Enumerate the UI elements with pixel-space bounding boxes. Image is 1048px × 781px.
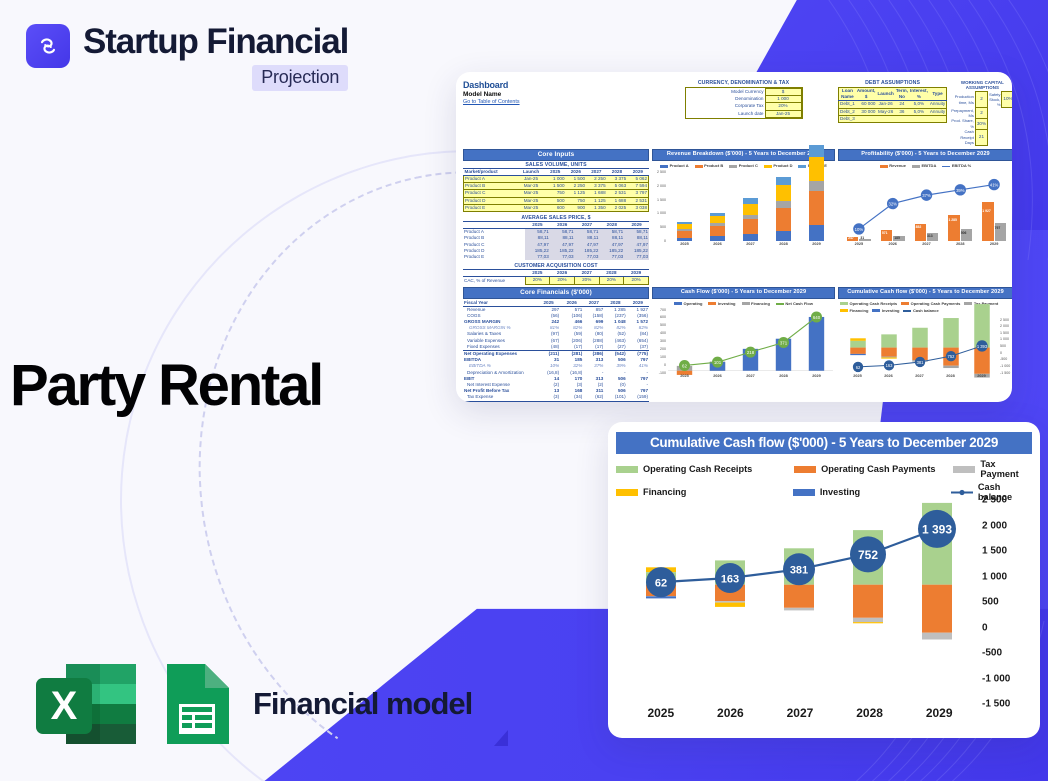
x-tick: 2026 (696, 706, 766, 730)
sales-volume-title: SALES VOLUME, UNITS (463, 162, 649, 169)
col-header: Launch (517, 169, 545, 176)
cell: 3 797 (627, 190, 648, 197)
y-tick: 500 (660, 323, 666, 327)
cell: May-26 (876, 108, 894, 115)
chart-title: Cumulative Cash flow ($'000) - 5 Years t… (616, 432, 1032, 454)
x-tick: 2027 (765, 706, 835, 730)
wc-row-label2: Safety Stock, % (988, 92, 1002, 108)
cell: (48) (537, 344, 560, 351)
x-tick: 2028 (943, 242, 977, 250)
y-tick: 2 500 (1000, 318, 1009, 322)
legend-item: Operating Cash Receipts (616, 459, 794, 479)
cell: Annuity (929, 108, 947, 115)
legend-label: Financing (850, 308, 869, 313)
legend-label: Product C (739, 163, 758, 168)
svg-text:1 393: 1 393 (977, 343, 988, 348)
legend-swatch (616, 466, 638, 473)
x-tick: 2026 (876, 242, 910, 250)
cell: (3) (537, 394, 560, 401)
col-header: 2025 (525, 222, 550, 229)
legend-item: Cash balance (903, 308, 938, 313)
cell: Jan-26 (876, 101, 894, 108)
table-row[interactable]: Revenue2975718571 2851 927 (463, 306, 649, 313)
col-header: 2029 (624, 222, 649, 229)
cell: Product D (464, 197, 518, 204)
cell: 1 350 (586, 204, 607, 211)
svg-text:371: 371 (780, 340, 788, 345)
x-tick: 2028 (935, 374, 966, 382)
y-tick: 0 (1000, 351, 1002, 355)
cell: (37) (627, 344, 649, 351)
cell: 297 (537, 306, 560, 313)
cell: (281) (560, 351, 583, 358)
table-row[interactable]: Product E Mar-25 600 900 1 350 2 025 3 0… (464, 204, 649, 211)
col-header: 2026 (550, 270, 575, 277)
table-row[interactable]: Product D Mar-25 500 750 1 125 1 688 2 5… (464, 197, 649, 204)
x-axis: 2025 2026 2027 2028 2029 (842, 242, 1011, 250)
cell: 58,71 (550, 229, 575, 236)
legend-label: Operating Cash Payments (821, 464, 935, 474)
col-header: Fiscal Year (463, 300, 537, 307)
legend-item: Product C (729, 163, 758, 168)
legend-label: Operating (684, 301, 703, 306)
revenue-breakdown-band: Revenue Breakdown ($'000) - 5 Years to D… (652, 149, 835, 161)
table-row[interactable]: Net Operating Expenses(211)(281)(386)(54… (463, 351, 649, 358)
table-row[interactable]: Product A 58,71 58,71 58,71 58,71 58,71 (463, 229, 649, 236)
currency-row-value[interactable]: $ (765, 89, 801, 96)
cell: 600 (545, 204, 566, 211)
cell: 637 (627, 401, 649, 402)
cell: Product A (463, 229, 525, 236)
y-tick: 300 (660, 339, 666, 343)
wc-row-label: Production time, Ms (950, 92, 975, 108)
cell: 571 (560, 306, 583, 313)
microsoft-excel-icon: X (33, 660, 141, 748)
cell: 58,71 (575, 229, 600, 236)
dashboard-model-name: Model Name (463, 91, 649, 98)
wc-row-label: Prepayment, Ms (950, 108, 975, 119)
working-capital-table[interactable]: Production time, Ms 2 Safety Stock, % 10… (950, 91, 1012, 146)
x-axis: 2025 2026 2027 2028 2029 (668, 374, 833, 382)
x-tick: 2027 (734, 242, 767, 250)
x-tick: 2027 (910, 242, 944, 250)
cell: (17) (583, 344, 604, 351)
cell: 5,0% (909, 101, 929, 108)
y-tick: 1 500 (657, 198, 666, 202)
cell: 750 (545, 190, 566, 197)
cell: 5,0% (909, 108, 929, 115)
cell: 2 250 (586, 176, 607, 183)
page-title: Party Rental (10, 352, 322, 419)
cell: 3 375 (607, 176, 628, 183)
cell: 857 (583, 306, 604, 313)
debt-assumptions-table[interactable]: Loan Name Amount, $ Launch Term, No Inte… (838, 87, 947, 123)
col-header: 2026 (566, 169, 587, 176)
bar-stack (677, 222, 692, 241)
cell: 58,71 (525, 229, 550, 236)
legend-label: Tax Payment (980, 459, 1032, 479)
cell: 1 000 (545, 176, 566, 183)
x-tick: 2029 (966, 374, 997, 382)
dashboard-toc-link[interactable]: Go to Table of Contents (463, 99, 649, 105)
cell: Product E (464, 204, 518, 211)
legend-label: Product A (670, 163, 689, 168)
cell: 20% (624, 277, 649, 284)
cell: 900 (566, 204, 587, 211)
cumulative-cash-flow-mini-chart[interactable]: Operating Cash Receipts Operating Cash P… (838, 300, 1012, 382)
x-tick: 2026 (701, 242, 734, 250)
cell: (211) (537, 351, 560, 358)
svg-text:39%: 39% (956, 188, 965, 193)
legend-item: EBITDA (912, 163, 936, 168)
svg-text:41%: 41% (990, 183, 999, 188)
currency-row-label: Launch date (686, 110, 766, 117)
cac-title: CUSTOMER ACQUISITION COST (463, 263, 649, 270)
debt-col-header: Type (929, 88, 947, 101)
bar-stack (809, 145, 824, 241)
cell: 1 125 (586, 197, 607, 204)
legend-label: Financing (643, 487, 686, 497)
legend-label: Investing (820, 487, 860, 497)
legend-label: Operating Cash Receipts (643, 464, 752, 474)
wc-row-label: Cash Receipt Days (950, 129, 975, 145)
cell: 20% (599, 277, 624, 284)
chart-legend: Product A Product B Product C Product D … (652, 162, 835, 170)
x-tick: 2025 (842, 374, 873, 382)
cumulative-cash-flow-card[interactable]: Cumulative Cash flow ($'000) - 5 Years t… (608, 422, 1040, 738)
legend-item: Net Cash Flow (776, 301, 813, 306)
svg-text:752: 752 (858, 548, 878, 562)
x-tick: 2029 (800, 242, 833, 250)
currency-row-label: Model Currency (686, 89, 766, 96)
row-label: Revenue (463, 306, 537, 313)
cac-table[interactable]: 2025 2026 2027 2028 2029 CAC, % of Reven… (463, 270, 649, 284)
table-row[interactable]: Product E 77,03 77,03 77,03 77,03 77,03 (463, 254, 649, 260)
x-tick: 2029 (800, 374, 833, 382)
x-tick: 2027 (734, 374, 767, 382)
legend-item: EBITDA % (942, 163, 971, 168)
col-header: 2028 (607, 169, 628, 176)
svg-text:1 393: 1 393 (922, 523, 952, 537)
cell: 3 038 (627, 204, 648, 211)
profitability-band: Profitability ($'000) - 5 Years to Decem… (838, 149, 1012, 161)
bar-stack (710, 213, 725, 241)
table-row[interactable]: Debt_1 60 000 Jan-26 24 5,0% Annuity (839, 101, 947, 108)
x-tick: 2027 (904, 374, 935, 382)
cell: 10 (537, 401, 560, 402)
core-inputs-tables[interactable]: SALES VOLUME, UNITS Market/product Launc… (463, 162, 649, 285)
legend-label: Revenue (889, 163, 906, 168)
row-label: Net Profit After Tax (463, 401, 537, 402)
bar-stack (743, 198, 758, 241)
cell: (159) (627, 394, 649, 401)
cell: 500 (545, 197, 566, 204)
dashboard-heading: Dashboard (463, 80, 649, 90)
x-tick: 2025 (842, 242, 876, 250)
cell: Jan-25 (517, 176, 545, 183)
x-tick: 2028 (835, 706, 905, 730)
cell: Mar-25 (517, 204, 545, 211)
y-tick: 100 (660, 355, 666, 359)
currency-row-value[interactable]: 1 000 (765, 96, 801, 103)
legend-swatch (616, 489, 638, 496)
y-tick: 1 000 (982, 571, 1007, 582)
col-header: 2027 (574, 270, 599, 277)
row-label: Tax Expense (463, 394, 537, 401)
table-row[interactable]: Fixed Expenses(48)(17)(17)(27)(37) (463, 344, 649, 351)
x-tick: 2029 (977, 242, 1011, 250)
cell: 77,03 (575, 254, 600, 260)
legend-label: Investing (882, 308, 900, 313)
wc-row-value[interactable]: 21 (975, 129, 987, 145)
table-row[interactable]: Product C Mar-25 750 1 125 1 688 2 531 3… (464, 190, 649, 197)
x-tick: 2026 (701, 374, 734, 382)
cash-balance-markers: 62 163 381 752 1 393 (842, 320, 997, 376)
x-tick: 2025 (668, 374, 701, 382)
x-axis: 2025 2026 2027 2028 2029 (842, 374, 997, 382)
legend-item: Financing (616, 482, 793, 502)
col-header: 2025 (537, 300, 560, 307)
row-label: Fixed Expenses (463, 344, 537, 351)
core-inputs-band: Core Inputs (463, 149, 649, 161)
currency-row-value[interactable]: Jan-25 (765, 110, 801, 117)
legend-label: EBITDA (921, 163, 936, 168)
debt-col-header: Interest, % (909, 88, 929, 101)
svg-text:10%: 10% (855, 227, 864, 232)
cell: 24 (895, 101, 909, 108)
col-header: 2027 (586, 169, 607, 176)
col-header: 2025 (545, 169, 566, 176)
legend-label: Product B (704, 163, 723, 168)
svg-text:X: X (51, 684, 78, 728)
debt-col-header: Term, No (895, 88, 909, 101)
y-tick: 500 (982, 597, 999, 608)
col-header: 2026 (550, 222, 575, 229)
format-badges: X Financial model (33, 660, 472, 748)
x-tick: 2028 (767, 242, 800, 250)
col-header: 2026 (560, 300, 583, 307)
cell: Product E (463, 254, 525, 260)
x-axis: 2025 2026 2027 2028 2029 (626, 706, 974, 730)
y-tick: 2 000 (1000, 324, 1009, 328)
y-tick: -100 (659, 371, 666, 375)
legend-label: Investing (718, 301, 736, 306)
cell: 58,71 (624, 229, 649, 236)
svg-text:32%: 32% (888, 202, 897, 207)
cell: Debt_1 (839, 101, 856, 108)
y-tick: 0 (664, 239, 666, 243)
revenue-breakdown-chart[interactable]: Product A Product B Product C Product D … (652, 162, 835, 250)
col-header: 2028 (604, 300, 626, 307)
cell: 77,03 (550, 254, 575, 260)
legend-item: Product B (695, 163, 724, 168)
svg-text:218: 218 (747, 350, 755, 355)
legend-swatch (794, 466, 816, 473)
table-row[interactable]: Product A Jan-25 1 000 1 500 2 250 3 375… (464, 176, 649, 183)
cell: Mar-25 (517, 183, 545, 190)
cell: 1 500 (566, 176, 587, 183)
y-tick: 700 (660, 308, 666, 312)
google-sheets-icon (161, 660, 233, 748)
cell: 250 (583, 401, 604, 402)
svg-text:163: 163 (886, 363, 894, 368)
cell: 2 531 (627, 197, 648, 204)
currency-row-value[interactable]: 20% (765, 103, 801, 110)
cell: Product C (464, 190, 518, 197)
debt-block-title: DEBT ASSUMPTIONS (838, 80, 947, 86)
y-axis: 2 500 2 000 1 500 1 000 500 0 -500 -1 00… (974, 500, 1032, 704)
wc-row-value[interactable]: 2 (975, 108, 987, 119)
y-tick: 2 000 (657, 184, 666, 188)
table-row[interactable]: Variable Expenses(67)(206)(288)(463)(654… (463, 338, 649, 344)
wc-row-value[interactable]: 2 (975, 92, 987, 108)
svg-text:62: 62 (682, 363, 687, 368)
legend-item: Investing (708, 301, 735, 306)
table-row[interactable]: Net Profit After Tax10134250405637 (463, 401, 649, 402)
cell: 20% (550, 277, 575, 284)
legend-swatch (953, 466, 975, 473)
col-header: 2028 (599, 222, 624, 229)
y-tick: 2 500 (982, 495, 1007, 506)
cell: 58,71 (599, 229, 624, 236)
legend-label: Net Cash Flow (785, 301, 813, 306)
svg-text:62: 62 (856, 364, 861, 369)
chart-legend: Revenue EBITDA EBITDA % (838, 162, 1012, 170)
y-tick: -1 500 (1000, 371, 1010, 375)
svg-text:163: 163 (721, 573, 739, 585)
cell: Product B (464, 183, 518, 190)
y-tick: -1 000 (1000, 364, 1010, 368)
x-tick: 2026 (873, 374, 904, 382)
sales-volume-table[interactable]: Market/product Launch 2025 2026 2027 202… (463, 169, 649, 212)
cell: Annuity (929, 101, 947, 108)
core-financials-table[interactable]: Fiscal Year 2025 2026 2027 2028 2029 Rev… (463, 300, 649, 402)
x-axis: 2025 2026 2027 2028 2029 (668, 242, 833, 250)
cell: (34) (560, 394, 583, 401)
col-header: 2028 (599, 270, 624, 277)
y-tick: 0 (664, 363, 666, 367)
cell: 405 (604, 401, 626, 402)
col-header: 2025 (525, 270, 550, 277)
legend-item: Tax Payment (953, 459, 1032, 479)
cell: 1 927 (627, 306, 649, 313)
cell: 77,03 (624, 254, 649, 260)
col-header: 2027 (583, 300, 604, 307)
wc-row-value[interactable]: 30% (975, 118, 987, 129)
cell: 1 688 (607, 197, 628, 204)
cell: 60 000 (856, 101, 877, 108)
col-header (463, 270, 525, 277)
debt-col-header: Loan Name (839, 88, 856, 101)
y-tick: 200 (660, 347, 666, 351)
legend-item: Operating Cash Payments (901, 301, 960, 306)
currency-row-label: Denomination (686, 96, 766, 103)
svg-text:62: 62 (655, 578, 667, 590)
cash-flow-chart[interactable]: Operating Investing Financing Net Cash F… (652, 300, 835, 382)
currency-block-title: CURRENCY, DENOMINATION & TAX (652, 80, 835, 86)
legend-swatch (793, 489, 815, 496)
table-row[interactable]: Debt_3 (839, 115, 947, 122)
y-tick: 1 500 (982, 546, 1007, 557)
avg-price-title: AVERAGE SALES PRICE, $ (463, 215, 649, 222)
x-tick: 2029 (904, 706, 974, 730)
core-financials-band: Core Financials ($'000) (463, 287, 649, 299)
cell: 2 531 (607, 190, 628, 197)
legend-item: Operating (674, 301, 702, 306)
table-row[interactable]: Product B Mar-25 1 500 2 250 3 375 5 063… (464, 183, 649, 190)
y-tick: 600 (660, 315, 666, 319)
format-label: Financial model (253, 686, 472, 722)
svg-text:381: 381 (917, 359, 925, 364)
brand-header: Startup Financial Projection (26, 24, 348, 91)
legend-label: Operating Cash Receipts (850, 301, 898, 306)
table-row[interactable]: Salaries & Taxes(97)(59)(80)(52)(84) (463, 331, 649, 337)
cumulative-cash-flow-band: Cumulative Cash flow ($'000) - 5 Years t… (838, 287, 1012, 299)
y-tick: 1 500 (1000, 331, 1009, 335)
col-header: Market/product (464, 169, 518, 176)
chart-legend: Operating Investing Financing Net Cash F… (652, 300, 835, 308)
y-tick: 0 (982, 622, 988, 633)
cell: 5 063 (607, 183, 628, 190)
y-tick: 1 000 (657, 211, 666, 215)
profitability-chart[interactable]: Revenue EBITDA EBITDA % 247 31 571 (838, 162, 1012, 250)
legend-item: Product D (764, 163, 793, 168)
debt-col-header: Launch (876, 88, 894, 101)
cell: Debt_2 (839, 108, 856, 115)
cell: 30 000 (856, 108, 877, 115)
legend-item: Revenue (880, 163, 906, 168)
brand-subtitle-badge: Projection (252, 65, 348, 91)
table-row[interactable]: Tax Expense(3)(34)(62)(101)(159) (463, 394, 649, 401)
cell: (17) (560, 344, 583, 351)
cell: (775) (627, 351, 649, 358)
cell: 5 062 (627, 176, 648, 183)
legend-item: Operating Cash Receipts (840, 301, 897, 306)
cell: 3 375 (586, 183, 607, 190)
cell: Mar-25 (517, 197, 545, 204)
average-price-table[interactable]: 2025 2026 2027 2028 2029 Product A 58,71… (463, 222, 649, 260)
col-header: 2029 (627, 169, 648, 176)
cell: 750 (566, 197, 587, 204)
wc-row-value2[interactable]: 10% (1002, 92, 1012, 108)
legend-item: Investing (793, 482, 951, 502)
cell: CAC, % of Revenue (463, 277, 525, 284)
cell: 2 025 (607, 204, 628, 211)
col-header (463, 222, 525, 229)
table-row[interactable]: Debt_2 30 000 May-26 36 5,0% Annuity (839, 108, 947, 115)
cash-flow-band: Cash Flow ($'000) - 5 Years to December … (652, 287, 835, 299)
bar-stack (776, 177, 791, 241)
cell: 1 285 (604, 306, 626, 313)
table-row[interactable]: CAC, % of Revenue 20% 20% 20% 20% 20% (463, 277, 649, 284)
legend-item: Financing (742, 301, 770, 306)
cell: (62) (583, 394, 604, 401)
y-tick: -1 000 (982, 673, 1010, 684)
cell: 20% (574, 277, 599, 284)
spiral-logo-icon (26, 24, 70, 68)
legend-item: Operating Cash Payments (794, 459, 953, 479)
wc-block-title: WORKING CAPITAL ASSUMPTIONS (950, 80, 1012, 90)
legend-label: EBITDA % (952, 163, 971, 168)
currency-block-table[interactable]: Model Currency$ Denomination1 000 Corpor… (685, 87, 803, 119)
wc-row-label: Prod. Share, % (950, 118, 975, 129)
currency-row-label: Corporate Tax (686, 103, 766, 110)
legend-label: Cash balance (913, 308, 939, 313)
dashboard-preview-card[interactable]: Dashboard Model Name Go to Table of Cont… (456, 72, 1012, 402)
y-axis: 2 500 2 000 1 500 1 000 500 0 (652, 172, 667, 241)
cell: Debt_3 (839, 115, 856, 122)
cell: 20% (525, 277, 550, 284)
